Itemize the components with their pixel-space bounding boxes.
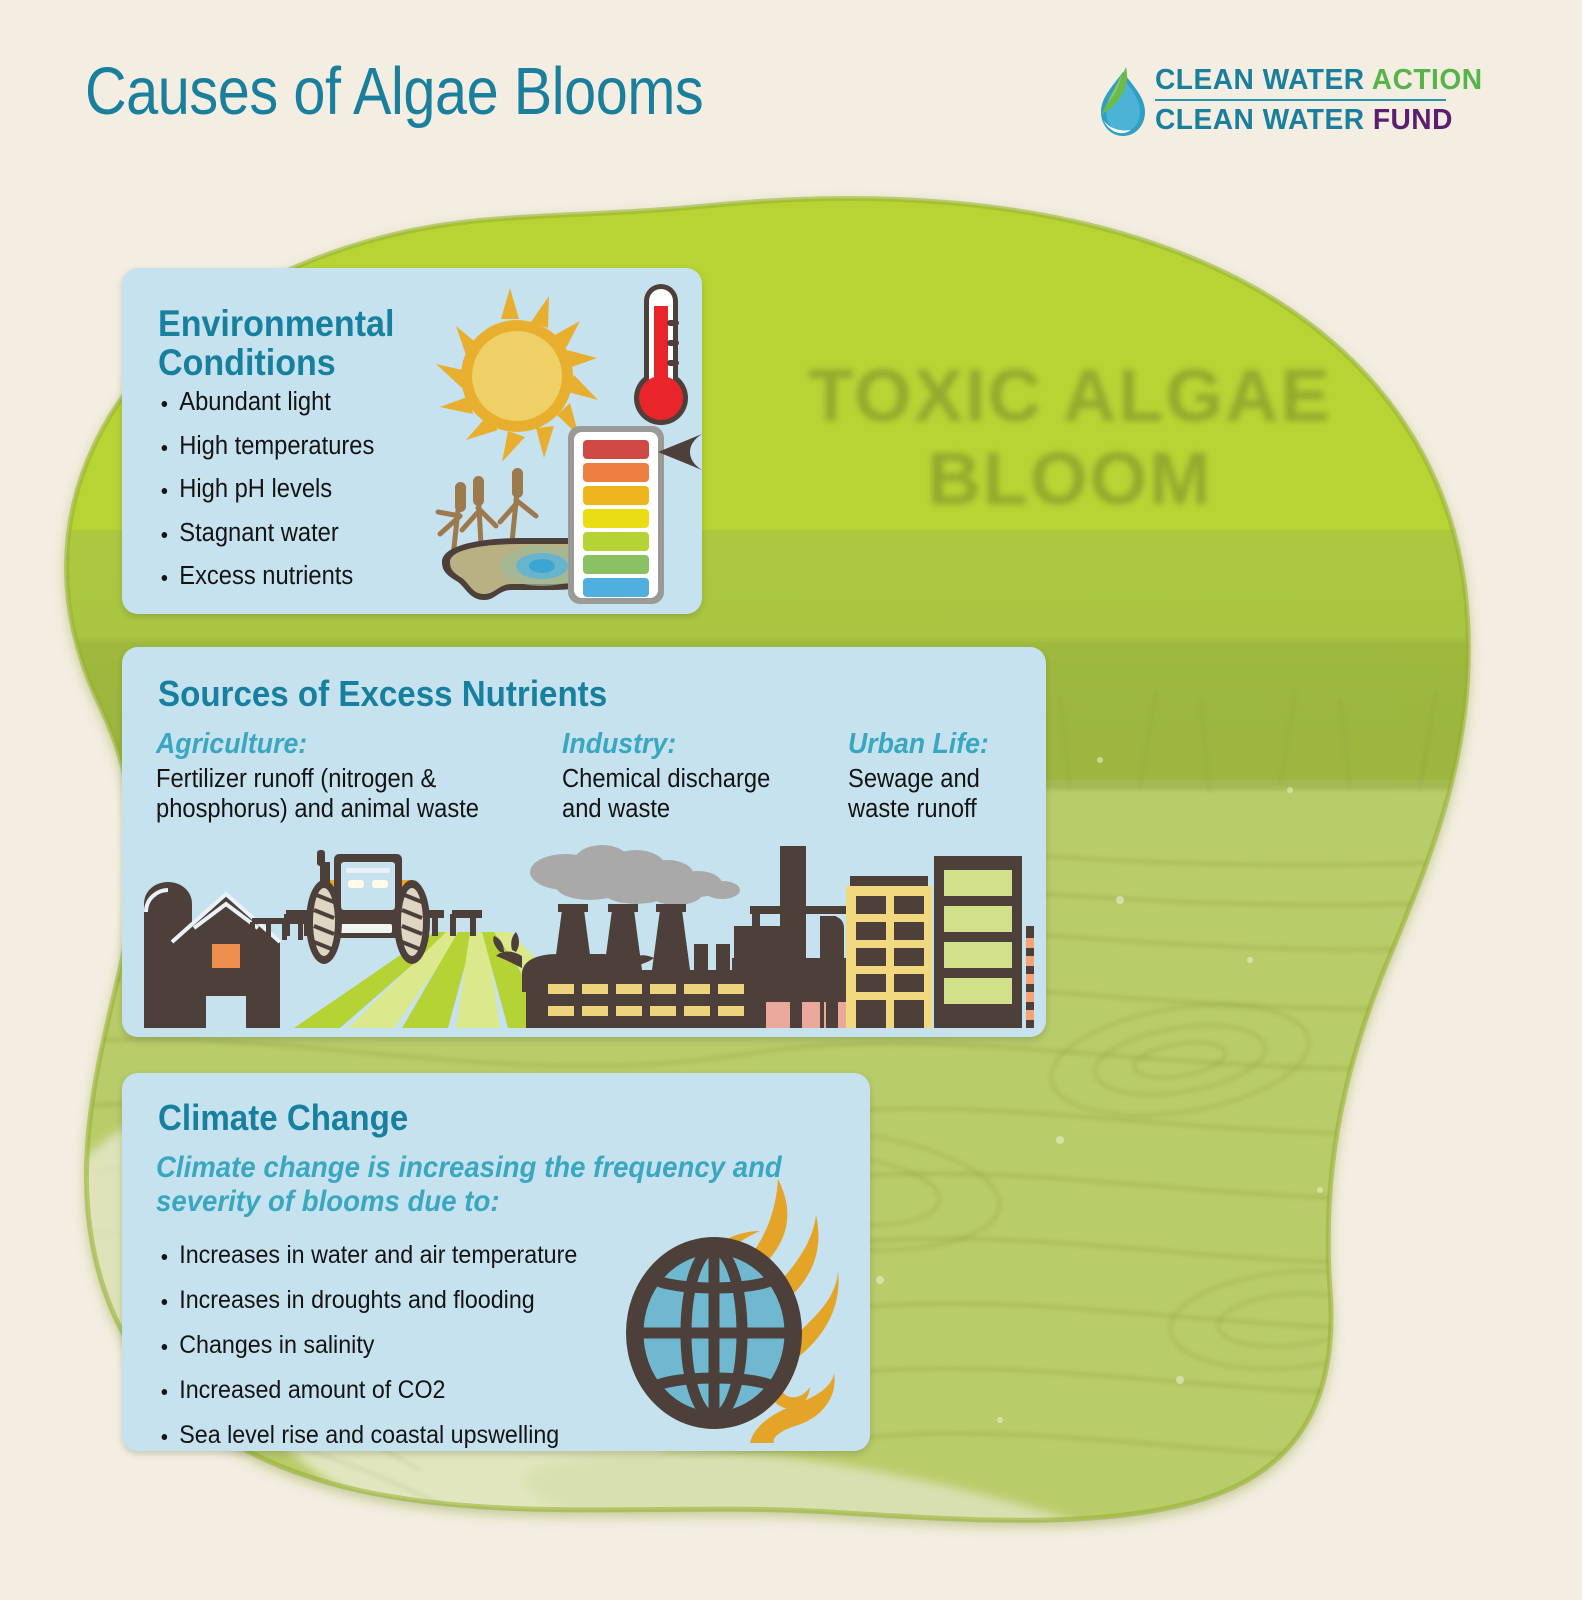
city-buildings-icon	[820, 856, 1034, 1028]
agriculture-subhead: Agriculture:	[156, 729, 533, 759]
logo-line-1: CLEAN WATER ACTION	[1155, 64, 1446, 101]
page-title: Causes of Algae Blooms	[85, 58, 703, 125]
logo-wordmark: CLEAN WATER ACTION CLEAN WATER FUND	[1155, 64, 1455, 137]
industry-subhead: Industry:	[562, 729, 809, 759]
environmental-artwork	[422, 276, 702, 606]
urban-life-body: Sewage and waste runoff	[848, 765, 1025, 823]
source-column-urban-life: Urban Life: Sewage and waste runoff	[848, 729, 1038, 824]
panel-sources-of-excess-nutrients: Sources of Excess Nutrients Agriculture:…	[122, 647, 1046, 1037]
toxic-label-line2: BLOOM	[770, 438, 1370, 521]
toxic-label-line1: TOXIC ALGAE	[770, 355, 1370, 438]
logo-fund: FUND	[1373, 104, 1453, 136]
logo-action: ACTION	[1372, 64, 1483, 96]
sources-heading: Sources of Excess Nutrients	[158, 675, 710, 713]
clean-water-action-logo[interactable]: CLEAN WATER ACTION CLEAN WATER FUND	[1093, 62, 1453, 144]
panel-climate-change: Climate Change Climate change is increas…	[122, 1073, 870, 1451]
climate-change-heading: Climate Change	[158, 1099, 581, 1137]
climate-change-artwork	[602, 1173, 872, 1443]
toxic-algae-bloom-label: TOXIC ALGAE BLOOM	[770, 355, 1370, 521]
logo-clean-water-1: CLEAN WATER	[1155, 64, 1365, 96]
industry-body: Chemical discharge and waste	[562, 765, 811, 823]
logo-line-2: CLEAN WATER FUND	[1155, 101, 1446, 137]
source-column-agriculture: Agriculture: Fertilizer runoff (nitrogen…	[156, 729, 566, 824]
sources-artwork	[134, 832, 1034, 1028]
urban-life-subhead: Urban Life:	[848, 729, 1023, 759]
environmental-heading: Environmental Conditions	[158, 304, 462, 382]
ph-test-strip-icon	[568, 426, 702, 604]
source-column-industry: Industry: Chemical discharge and waste	[562, 729, 830, 824]
agriculture-body: Fertilizer runoff (nitrogen & phosphorus…	[156, 765, 537, 823]
thermometer-icon	[634, 284, 688, 425]
logo-clean-water-2: CLEAN WATER	[1155, 104, 1365, 136]
panel-environmental-conditions: Environmental Conditions Abundant light …	[122, 268, 702, 614]
header: Causes of Algae Blooms CLEAN WATER ACTIO…	[0, 0, 1582, 190]
smoke-cloud	[530, 845, 740, 905]
factory-smokestacks-icon	[526, 845, 902, 1028]
water-drop-leaf-icon	[1093, 64, 1151, 140]
infographic-canvas: TOXIC ALGAE BLOOM Causes of Algae Blooms…	[0, 0, 1582, 1600]
globe-icon	[626, 1237, 802, 1429]
